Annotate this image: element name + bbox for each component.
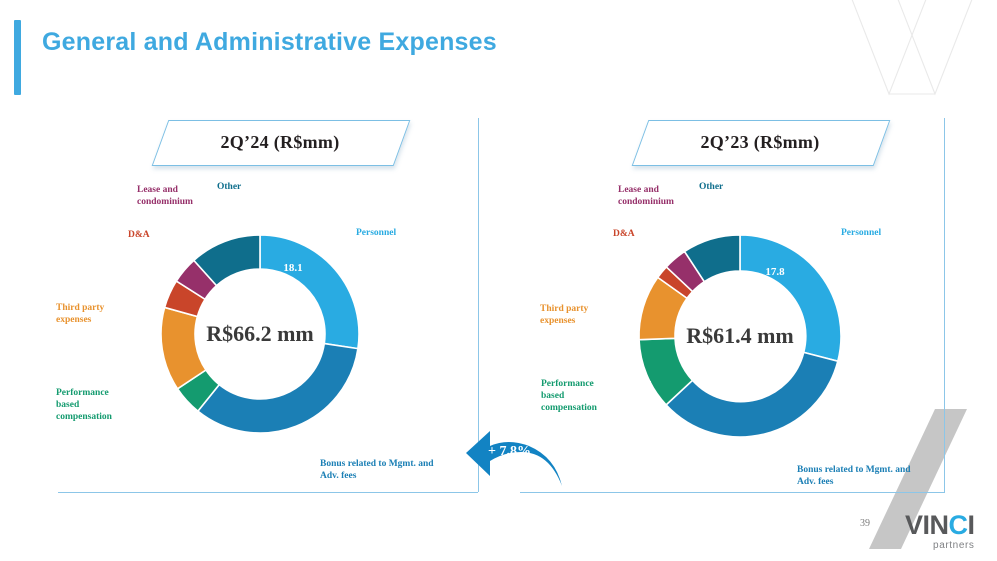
label-performance-2q24: Performance based compensation: [56, 387, 112, 423]
panel-2q23-bottom-rule: [520, 492, 945, 493]
label-other-2q24: Other: [217, 181, 241, 193]
value-performance-2q24: 2.5: [161, 400, 175, 412]
label-lease-2q23: Lease and condominium: [618, 184, 674, 208]
label-lease-2q24: Lease and condominium: [137, 184, 193, 208]
value-personnel-2q24: 18.1: [283, 262, 302, 274]
v-watermark-icon: [827, 0, 987, 116]
value-performance-2q23: 5.4: [638, 379, 652, 391]
value-thirdparty-2q24: 11.1: [139, 333, 158, 345]
logo-i: I: [968, 510, 975, 540]
label-other-2q23: Other: [699, 181, 723, 193]
banner-2q23-label: 2Q’23 (R$mm): [640, 120, 880, 164]
page-number: 39: [860, 518, 870, 529]
logo-wordmark: VINCI: [905, 512, 975, 539]
value-other-2q24: 4.8: [226, 228, 240, 240]
label-bonus-2q23: Bonus related to Mgmt. and Adv. fees: [797, 464, 911, 488]
curved-arrow-icon: [463, 424, 568, 496]
value-thirdparty-2q23: 8.7: [629, 304, 643, 316]
value-da-2q23: 2.0: [658, 251, 672, 263]
value-da-2q24: 3.3: [163, 264, 177, 276]
donut-slice-bonus[interactable]: [198, 344, 358, 433]
value-lease-2q24: 3.0: [189, 242, 203, 254]
value-other-2q23: 3.2: [709, 228, 723, 240]
value-bonus-2q23: 21.1: [750, 435, 769, 447]
logo-vin: VIN: [905, 510, 949, 540]
label-thirdparty-2q23: Third party expenses: [540, 303, 588, 327]
donut-2q23-center-total: R$61.4 mm: [658, 320, 822, 352]
logo-tagline: partners: [905, 540, 975, 551]
label-da-2q23: D&A: [613, 228, 635, 240]
page-title: General and Administrative Expenses: [42, 28, 497, 57]
label-performance-2q23: Performance based compensation: [541, 378, 597, 414]
vinci-partners-logo: VINCI partners: [905, 512, 975, 551]
banner-2q24-label: 2Q’24 (R$mm): [160, 120, 400, 164]
label-thirdparty-2q24: Third party expenses: [56, 302, 104, 326]
logo-c: C: [949, 510, 968, 540]
label-da-2q24: D&A: [128, 229, 150, 241]
donut-2q24-center-total: R$66.2 mm: [178, 318, 342, 350]
panel-2q23-right-rule: [944, 118, 945, 492]
panel-2q24-bottom-rule: [58, 492, 478, 493]
label-personnel-2q24: Personnel: [356, 227, 396, 239]
title-accent-bar: [14, 20, 21, 95]
value-lease-2q23: 3.2: [679, 237, 693, 249]
label-bonus-2q24: Bonus related to Mgmt. and Adv. fees: [320, 458, 434, 482]
growth-arrow-label: + 7.8%: [488, 444, 531, 460]
value-personnel-2q23: 17.8: [765, 266, 784, 278]
slide-canvas: General and Administrative Expenses 2Q’2…: [0, 0, 997, 561]
value-bonus-2q24: 23.4: [271, 436, 290, 448]
growth-arrow: + 7.8%: [463, 424, 568, 496]
label-personnel-2q23: Personnel: [841, 227, 881, 239]
donut-slice-bonus[interactable]: [666, 352, 838, 437]
